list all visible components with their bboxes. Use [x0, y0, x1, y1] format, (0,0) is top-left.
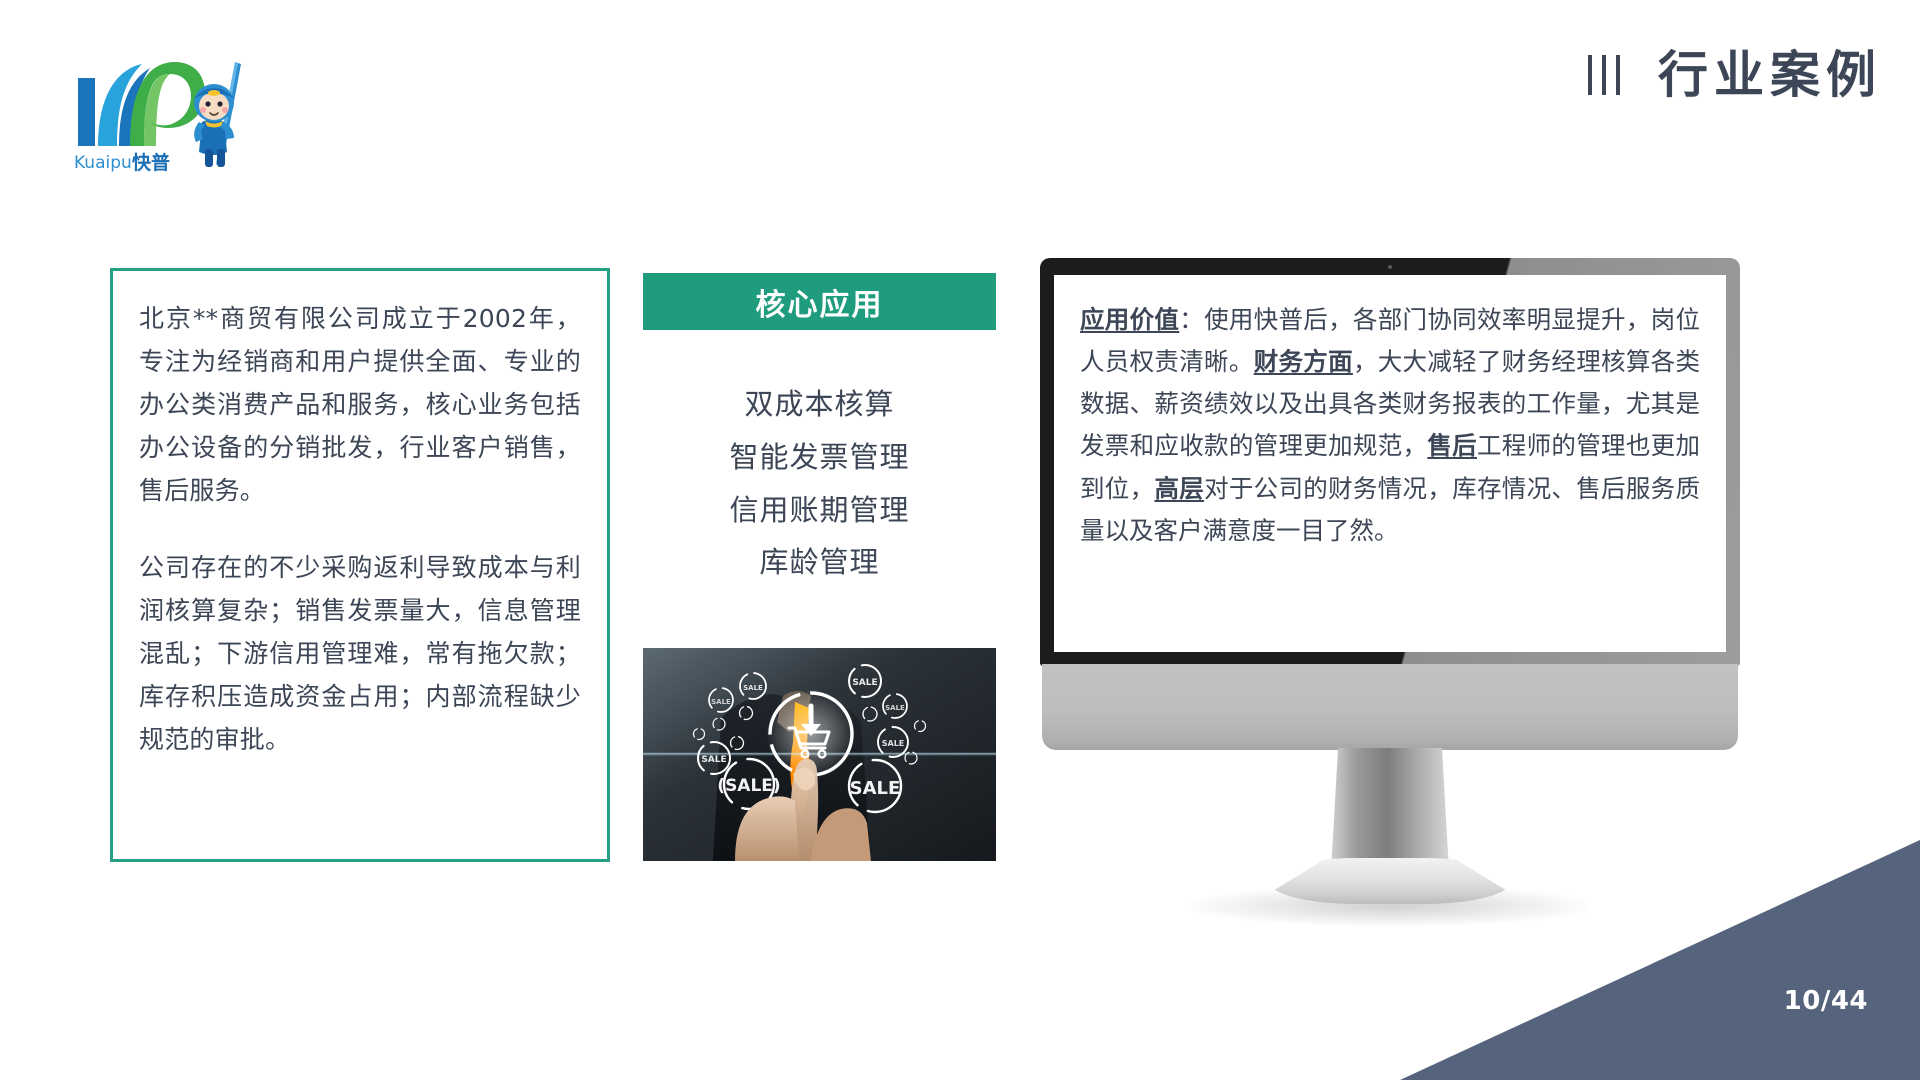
- emphasis-finance: 财务方面: [1254, 347, 1353, 376]
- monitor-graphic: 应用价值：使用快普后，各部门协同效率明显提升，岗位人员权责清晰。财务方面，大大减…: [1040, 258, 1740, 770]
- list-item: 信用账期管理: [643, 484, 996, 537]
- svg-text:SALE: SALE: [850, 778, 901, 799]
- core-applications-header: 核心应用: [643, 273, 996, 330]
- logo-wordmark-cn: 快普: [132, 151, 170, 173]
- monitor-stand-neck: [1331, 748, 1449, 870]
- slide-canvas: Kuaipu 快普 行业案例 北京**商贸有限公司成立于2002年，专注为经销商…: [0, 0, 1920, 1080]
- core-applications-header-label: 核心应用: [756, 280, 884, 324]
- application-value-label: 应用价值: [1080, 305, 1179, 334]
- list-item: 智能发票管理: [643, 431, 996, 484]
- ecommerce-photo-artwork: SALE SALE SALE SALE SALE SALE (SALE) SAL…: [643, 648, 996, 861]
- svg-text:SALE: SALE: [711, 698, 731, 706]
- colon: ：: [1179, 305, 1204, 334]
- monitor-stand-base: [1268, 858, 1512, 904]
- company-problems-paragraph-2: 公司存在的不少采购返利导致成本与利润核算复杂；销售发票量大，信息管理混乱；下游信…: [139, 546, 581, 761]
- page-title: 行业案例: [1588, 50, 1882, 100]
- svg-text:(SALE): (SALE): [717, 776, 780, 796]
- logo-artwork: Kuaipu 快普: [72, 48, 247, 173]
- emphasis-executives: 高层: [1154, 474, 1204, 503]
- list-item: 双成本核算: [643, 378, 996, 431]
- company-profile-paragraph-1: 北京**商贸有限公司成立于2002年，专注为经销商和用户提供全面、专业的办公类消…: [139, 297, 581, 512]
- core-applications-list: 双成本核算 智能发票管理 信用账期管理 库龄管理: [643, 378, 996, 589]
- page-title-text: 行业案例: [1658, 50, 1882, 100]
- company-profile-box: 北京**商贸有限公司成立于2002年，专注为经销商和用户提供全面、专业的办公类消…: [110, 268, 610, 862]
- webcam-icon: [1388, 265, 1392, 269]
- svg-text:SALE: SALE: [852, 678, 877, 688]
- list-item: 库龄管理: [643, 536, 996, 589]
- page-number: 10/44: [1784, 986, 1868, 1016]
- svg-text:SALE: SALE: [885, 704, 905, 712]
- monitor-chin: [1042, 664, 1738, 750]
- application-value-text: 应用价值：使用快普后，各部门协同效率明显提升，岗位人员权责清晰。财务方面，大大减…: [1080, 299, 1700, 552]
- three-vertical-bars-icon: [1588, 53, 1620, 97]
- logo-wordmark-latin: Kuaipu: [74, 153, 132, 173]
- ecommerce-photo: SALE SALE SALE SALE SALE SALE (SALE) SAL…: [643, 648, 996, 861]
- monitor-screen: 应用价值：使用快普后，各部门协同效率明显提升，岗位人员权责清晰。财务方面，大大减…: [1054, 275, 1726, 652]
- svg-text:SALE: SALE: [882, 739, 905, 748]
- emphasis-aftersales: 售后: [1427, 431, 1477, 460]
- svg-text:SALE: SALE: [743, 684, 763, 692]
- kuaipu-logo: Kuaipu 快普: [72, 48, 247, 173]
- svg-text:SALE: SALE: [701, 755, 726, 765]
